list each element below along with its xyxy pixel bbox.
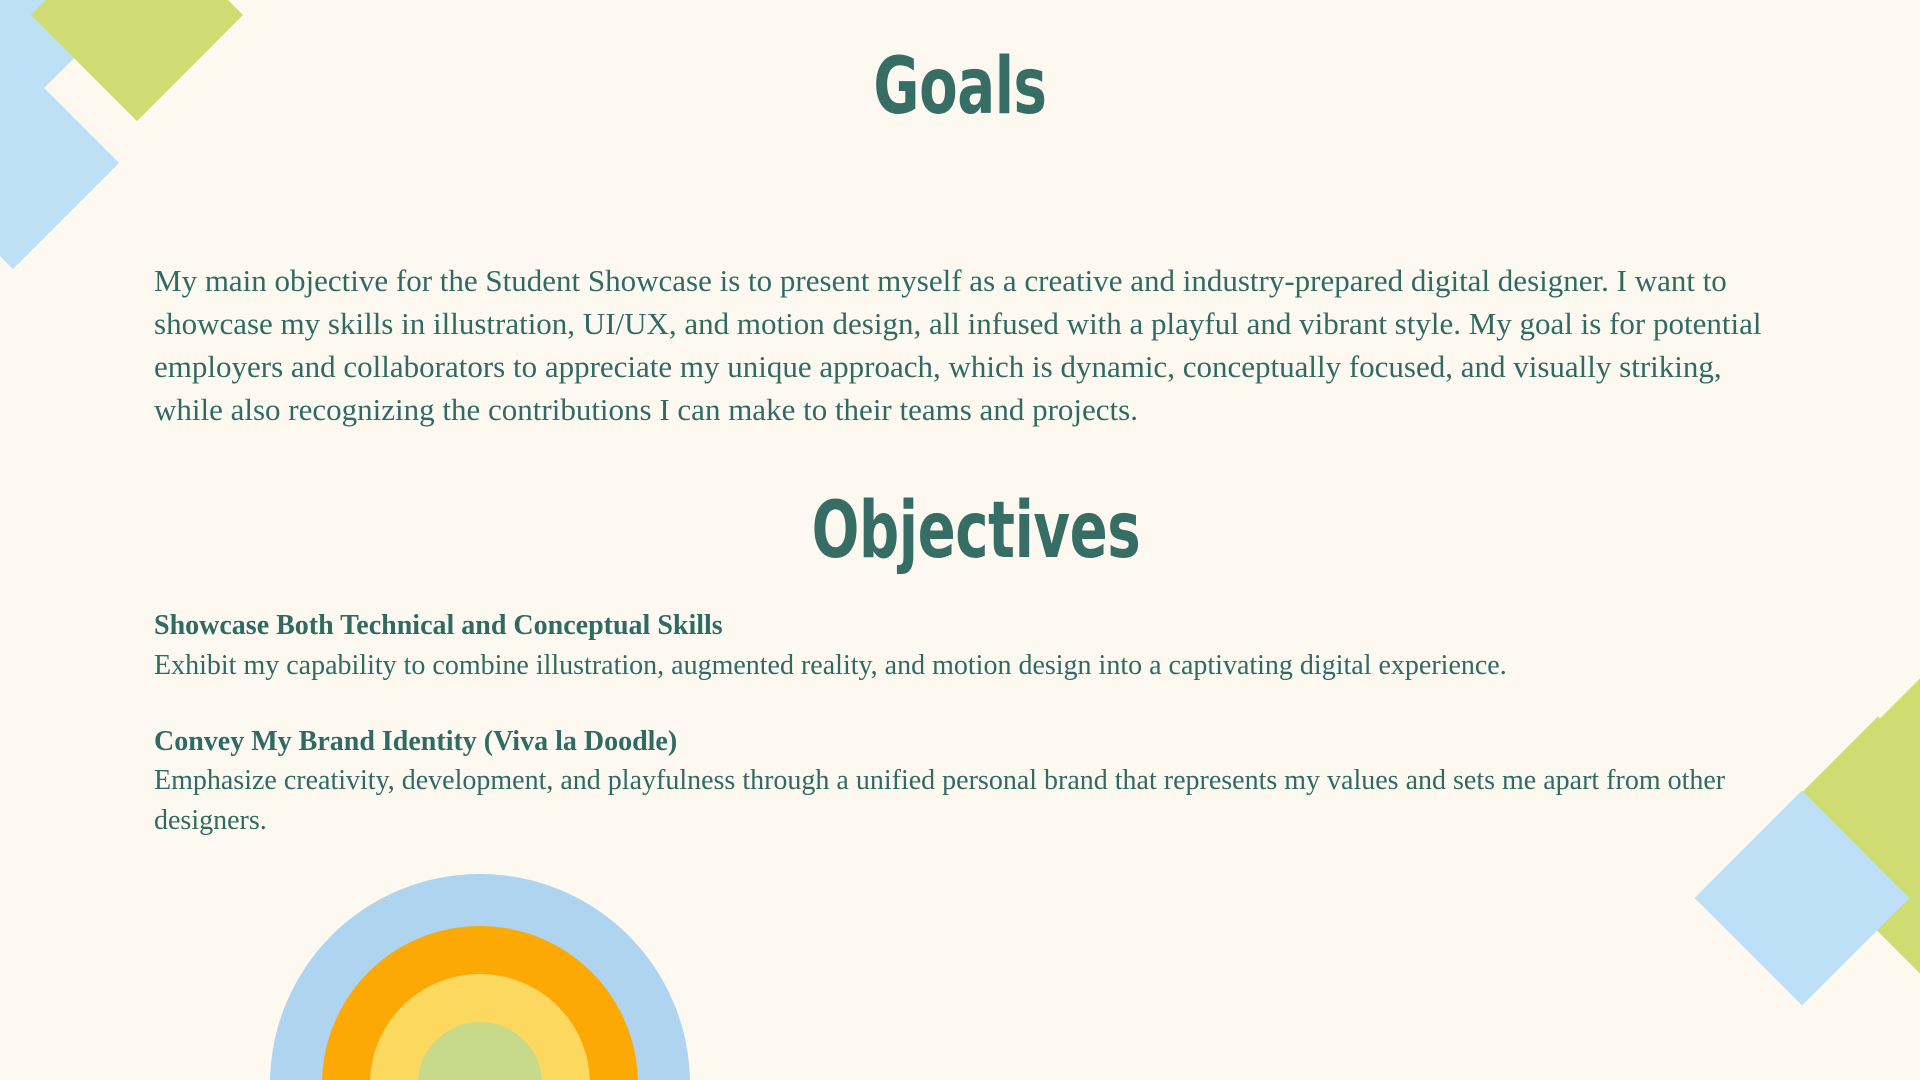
goals-section-title: Goals <box>192 48 1728 126</box>
objective-description: Exhibit my capability to combine illustr… <box>154 646 1754 686</box>
objective-heading: Showcase Both Technical and Conceptual S… <box>154 608 1754 644</box>
slide-content: Goals My main objective for the Student … <box>0 0 1920 1080</box>
objective-description: Emphasize creativity, development, and p… <box>154 761 1754 841</box>
objective-heading: Convey My Brand Identity (Viva la Doodle… <box>154 724 1754 760</box>
objective-item: Showcase Both Technical and Conceptual S… <box>154 608 1754 686</box>
objectives-list: Showcase Both Technical and Conceptual S… <box>154 608 1754 841</box>
goals-body-paragraph: My main objective for the Student Showca… <box>154 259 1774 431</box>
slide-canvas: Goals My main objective for the Student … <box>0 0 1920 1080</box>
objective-item: Convey My Brand Identity (Viva la Doodle… <box>154 724 1754 841</box>
objectives-section-title: Objectives <box>192 492 1728 570</box>
